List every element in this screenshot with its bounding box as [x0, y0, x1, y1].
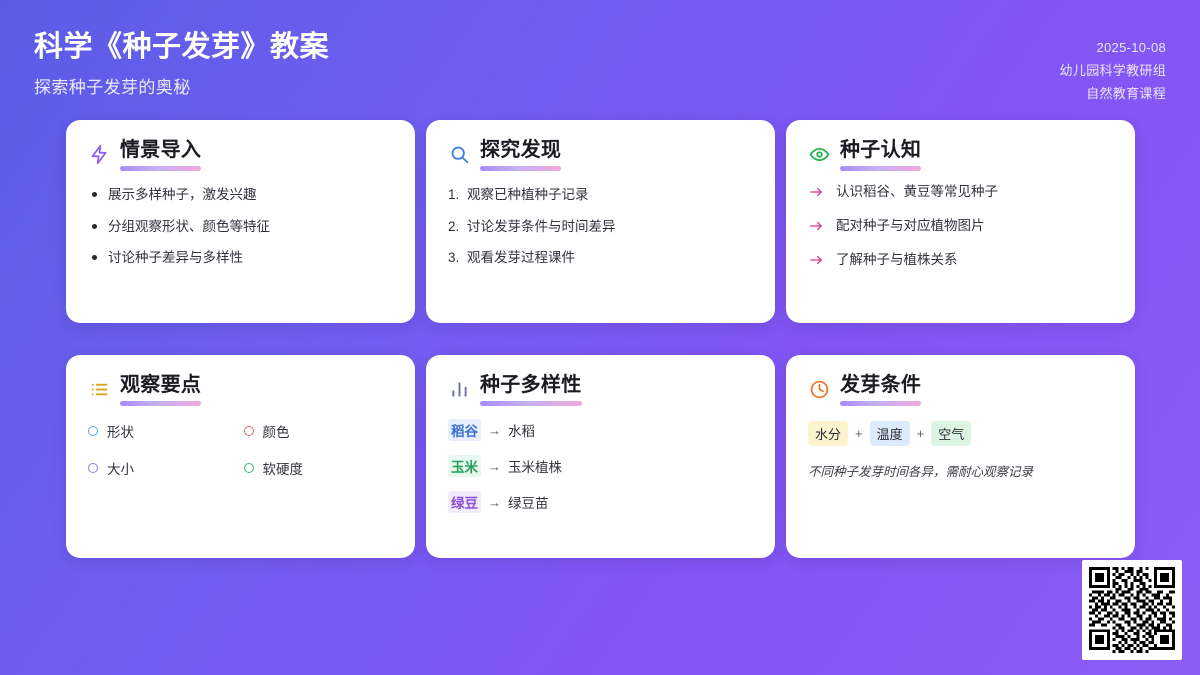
title-underline — [840, 401, 921, 406]
card-header: 观察要点 — [88, 373, 393, 406]
card-title: 种子多样性 — [480, 373, 582, 397]
circle-icon — [244, 426, 254, 436]
card-germination-conditions[interactable]: 发芽条件 水分 + 温度 + 空气 不同种子发芽时间各异，需耐心观察记录 — [786, 355, 1135, 558]
bar-chart-icon — [448, 379, 470, 401]
page-title: 科学《种子发芽》教案 — [34, 31, 329, 64]
pair-list: 稻谷 → 水稻 玉米 → 玉米植株 绿豆 → 绿豆苗 — [448, 419, 753, 513]
list-item: 展示多样种子，激发兴趣 — [88, 185, 393, 205]
list-item-label: 配对种子与对应植物图片 — [836, 217, 985, 236]
slide-header: 科学《种子发芽》教案 探索种子发芽的奥秘 2025-10-08 幼儿园科学教研组… — [0, 0, 1200, 118]
pair-value: 水稻 — [508, 420, 535, 440]
observation-point-grid: 形状 颜色 大小 软硬度 — [88, 421, 393, 478]
card-header: 发芽条件 — [808, 373, 1113, 406]
list-icon — [88, 379, 110, 401]
card-title-wrap: 种子认知 — [840, 138, 921, 171]
point-item-shape: 形状 — [88, 421, 238, 441]
header-title-block: 科学《种子发芽》教案 探索种子发芽的奥秘 — [34, 24, 329, 98]
pair-key: 稻谷 — [448, 419, 481, 441]
title-underline — [120, 401, 201, 406]
card-grid: 情景导入 展示多样种子，激发兴趣 分组观察形状、颜色等特征 讨论种子差异与多样性… — [66, 120, 1134, 558]
title-underline — [120, 166, 201, 171]
card-inquiry-discovery[interactable]: 探究发现 观察已种植种子记录 讨论发芽条件与时间差异 观看发芽过程课件 — [426, 120, 775, 323]
circle-icon — [88, 426, 98, 436]
list-item: 观看发芽过程课件 — [448, 248, 753, 268]
arrow-glyph: → — [488, 423, 501, 438]
title-underline — [480, 401, 582, 406]
list-item: 稻谷 → 水稻 — [448, 419, 753, 441]
list-item: 了解种子与植株关系 — [808, 251, 1113, 270]
meta-date: 2025-10-08 — [1097, 38, 1167, 58]
list-item: 认识稻谷、黄豆等常见种子 — [808, 183, 1113, 202]
list-item: 绿豆 → 绿豆苗 — [448, 491, 753, 513]
chip-water: 水分 — [808, 421, 848, 446]
list-item: 讨论发芽条件与时间差异 — [448, 217, 753, 237]
point-label: 软硬度 — [263, 458, 304, 478]
circle-icon — [88, 463, 98, 473]
arrow-right-icon — [808, 219, 825, 233]
arrow-glyph: → — [488, 459, 501, 474]
title-underline — [480, 166, 561, 171]
arrow-list: 认识稻谷、黄豆等常见种子 配对种子与对应植物图片 了解种子与植株关系 — [808, 183, 1113, 270]
clock-icon — [808, 379, 830, 401]
condition-chip-row: 水分 + 温度 + 空气 — [808, 421, 1113, 446]
card-title: 发芽条件 — [840, 373, 921, 397]
list-item: 讨论种子差异与多样性 — [88, 248, 393, 268]
list-item: 观察已种植种子记录 — [448, 185, 753, 205]
card-seed-cognition[interactable]: 种子认知 认识稻谷、黄豆等常见种子 配对种子与对应植物图片 — [786, 120, 1135, 323]
point-item-hardness: 软硬度 — [244, 458, 394, 478]
arrow-glyph: → — [488, 495, 501, 510]
card-title-wrap: 种子多样性 — [480, 373, 582, 406]
eye-icon — [808, 144, 830, 166]
list-item: 玉米 → 玉米植株 — [448, 455, 753, 477]
card-title: 情景导入 — [120, 138, 201, 162]
plus-separator: + — [917, 426, 925, 441]
card-header: 情景导入 — [88, 138, 393, 171]
plus-separator: + — [855, 426, 863, 441]
point-label: 形状 — [107, 421, 134, 441]
pair-value: 玉米植株 — [508, 456, 562, 476]
chip-temperature: 温度 — [870, 421, 910, 446]
point-label: 颜色 — [263, 421, 290, 441]
card-title-wrap: 探究发现 — [480, 138, 561, 171]
list-item: 配对种子与对应植物图片 — [808, 217, 1113, 236]
card-title: 探究发现 — [480, 138, 561, 162]
arrow-right-icon — [808, 253, 825, 267]
meta-course: 自然教育课程 — [1086, 84, 1166, 104]
point-item-color: 颜色 — [244, 421, 394, 441]
list-item-label: 了解种子与植株关系 — [836, 251, 958, 270]
search-icon — [448, 144, 470, 166]
card-observation-points[interactable]: 观察要点 形状 颜色 大小 软硬度 — [66, 355, 415, 558]
circle-icon — [244, 463, 254, 473]
pair-key: 绿豆 — [448, 491, 481, 513]
card-title-wrap: 情景导入 — [120, 138, 201, 171]
arrow-right-icon — [808, 185, 825, 199]
card-seed-diversity[interactable]: 种子多样性 稻谷 → 水稻 玉米 → 玉米植株 绿豆 → 绿豆苗 — [426, 355, 775, 558]
chip-air: 空气 — [931, 421, 971, 446]
bullet-list: 展示多样种子，激发兴趣 分组观察形状、颜色等特征 讨论种子差异与多样性 — [88, 185, 393, 268]
germination-note: 不同种子发芽时间各异，需耐心观察记录 — [808, 463, 1113, 481]
meta-group: 幼儿园科学教研组 — [1060, 61, 1166, 81]
card-header: 种子认知 — [808, 138, 1113, 171]
qr-code[interactable] — [1082, 560, 1182, 660]
numbered-list: 观察已种植种子记录 讨论发芽条件与时间差异 观看发芽过程课件 — [448, 185, 753, 268]
card-header: 探究发现 — [448, 138, 753, 171]
lightning-icon — [88, 144, 110, 166]
point-label: 大小 — [107, 458, 134, 478]
qr-code-image — [1089, 567, 1175, 653]
card-title: 观察要点 — [120, 373, 201, 397]
page-subtitle: 探索种子发芽的奥秘 — [34, 73, 329, 98]
pair-key: 玉米 — [448, 455, 481, 477]
title-underline — [840, 166, 921, 171]
point-item-size: 大小 — [88, 458, 238, 478]
header-meta-block: 2025-10-08 幼儿园科学教研组 自然教育课程 — [1060, 24, 1166, 104]
card-title: 种子认知 — [840, 138, 921, 162]
card-scenario-intro[interactable]: 情景导入 展示多样种子，激发兴趣 分组观察形状、颜色等特征 讨论种子差异与多样性 — [66, 120, 415, 323]
card-header: 种子多样性 — [448, 373, 753, 406]
list-item: 分组观察形状、颜色等特征 — [88, 217, 393, 237]
card-title-wrap: 发芽条件 — [840, 373, 921, 406]
pair-value: 绿豆苗 — [508, 492, 549, 512]
list-item-label: 认识稻谷、黄豆等常见种子 — [836, 183, 998, 202]
card-title-wrap: 观察要点 — [120, 373, 201, 406]
